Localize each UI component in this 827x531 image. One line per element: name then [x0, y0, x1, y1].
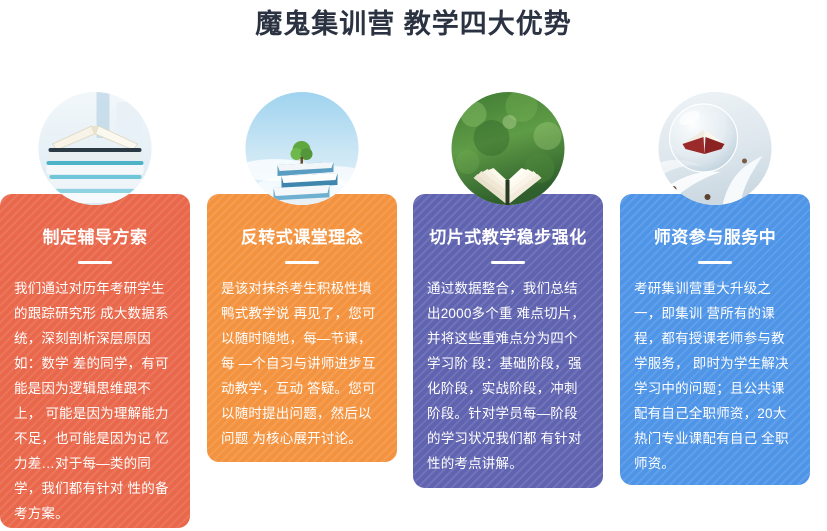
feature-card-4-body: 考研集训营重大升级之一，即集训 营所有的课程，都有授课老师参与教学服务， 即时为…: [634, 276, 796, 476]
feature-card-3[interactable]: 切片式教学稳步强化 通过数据整合，我们总结出2000多个重 难点切片，并将这些重…: [413, 0, 603, 531]
title-divider: [78, 261, 112, 264]
stacked-books-photo: [39, 92, 152, 205]
title-divider: [491, 261, 525, 264]
title-divider: [698, 261, 732, 264]
book-in-glass-sphere-photo: [659, 92, 772, 205]
feature-card-3-panel: 切片式教学稳步强化 通过数据整合，我们总结出2000多个重 难点切片，并将这些重…: [413, 194, 603, 488]
open-book-green-bokeh-photo: [452, 92, 565, 205]
feature-card-1[interactable]: 制定辅导方索 我们通过对历年考研学生的跟踪研究形 成大数据系统，深刻剖析深层原因…: [0, 0, 190, 531]
feature-card-4[interactable]: 师资参与服务中 考研集训营重大升级之一，即集训 营所有的课程，都有授课老师参与教…: [620, 0, 810, 531]
title-divider: [285, 261, 319, 264]
feature-card-4-panel: 师资参与服务中 考研集训营重大升级之一，即集训 营所有的课程，都有授课老师参与教…: [620, 194, 810, 485]
feature-card-4-title: 师资参与服务中: [634, 226, 796, 250]
feature-card-3-body: 通过数据整合，我们总结出2000多个重 难点切片，并将这些重难点分为四个学习阶 …: [427, 276, 589, 476]
feature-card-1-body: 我们通过对历年考研学生的跟踪研究形 成大数据系统，深刻剖析深层原因如：数学 差的…: [14, 276, 176, 526]
books-with-tree-sky-photo: [246, 92, 359, 205]
promo-page: 魔鬼集训营 教学四大优势: [0, 0, 827, 531]
feature-cards-row: 制定辅导方索 我们通过对历年考研学生的跟踪研究形 成大数据系统，深刻剖析深层原因…: [0, 0, 827, 531]
feature-card-2-panel: 反转式课堂理念 是该对抹杀考生积极性填鸭式教学说 再见了，您可以随时随地，每—节…: [207, 194, 397, 462]
feature-card-1-panel: 制定辅导方索 我们通过对历年考研学生的跟踪研究形 成大数据系统，深刻剖析深层原因…: [0, 194, 190, 528]
feature-card-1-title: 制定辅导方索: [14, 226, 176, 250]
feature-card-2-title: 反转式课堂理念: [221, 226, 383, 250]
feature-card-3-title: 切片式教学稳步强化: [427, 226, 589, 250]
feature-card-2-body: 是该对抹杀考生积极性填鸭式教学说 再见了，您可以随时随地，每—节课，每 —个自习…: [221, 276, 383, 451]
feature-card-2[interactable]: 反转式课堂理念 是该对抹杀考生积极性填鸭式教学说 再见了，您可以随时随地，每—节…: [207, 0, 397, 531]
